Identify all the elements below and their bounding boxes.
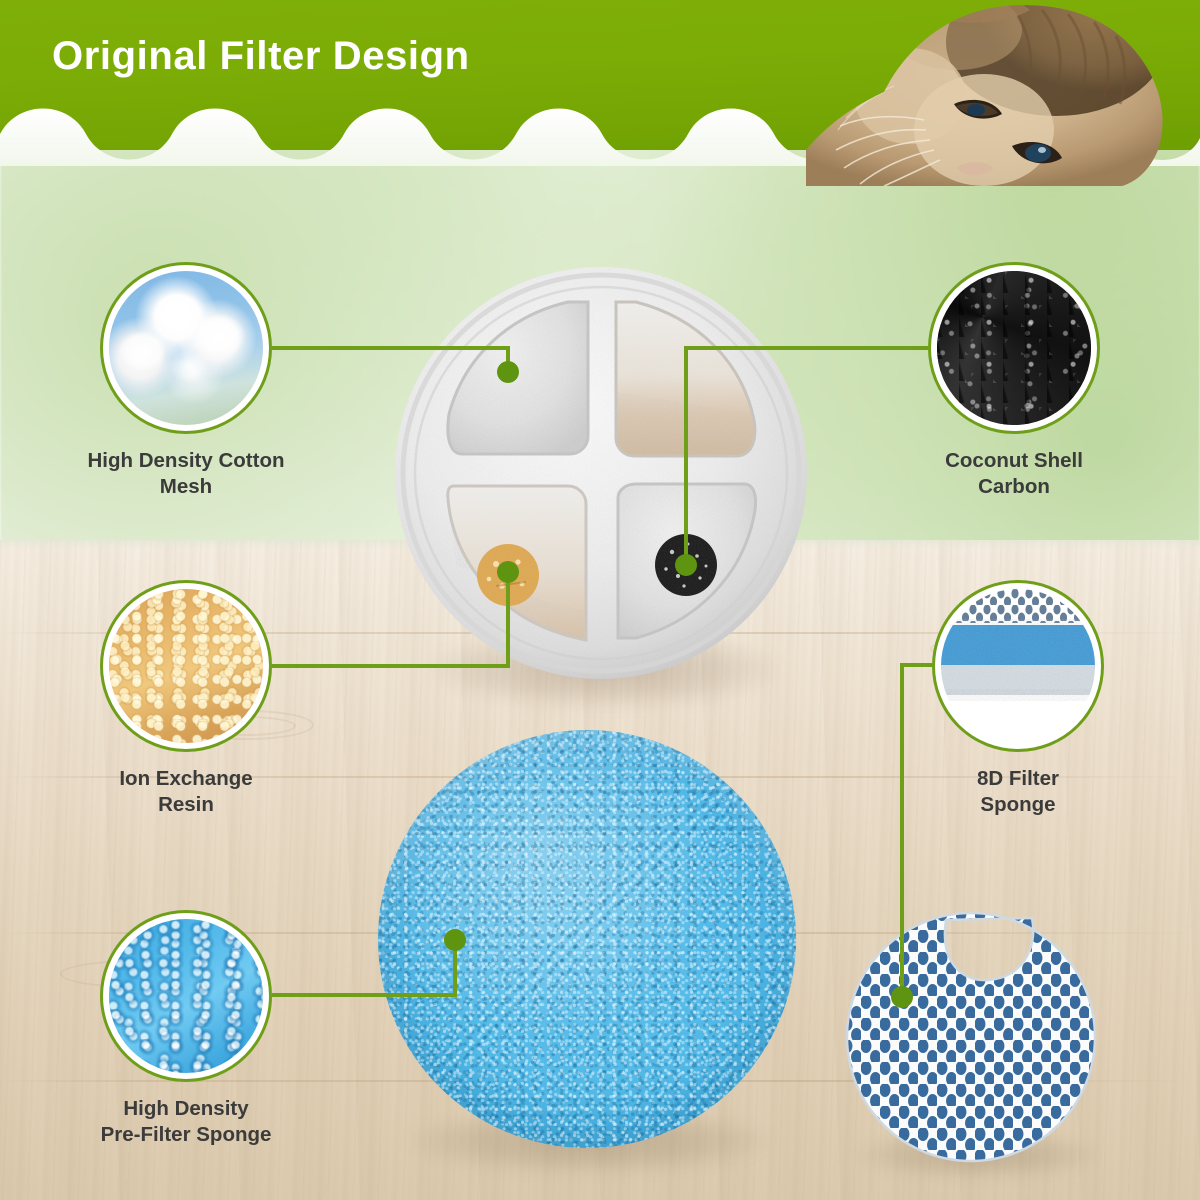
page-title: Original Filter Design bbox=[52, 34, 470, 79]
layered-sponge-thumbnail bbox=[941, 589, 1095, 743]
callout-label-resin: Ion Exchange Resin bbox=[36, 766, 336, 818]
carbon-granules-thumbnail bbox=[937, 271, 1091, 425]
cotton-bolls-thumbnail bbox=[109, 271, 263, 425]
callout-label-cotton: High Density Cotton Mesh bbox=[36, 448, 336, 500]
carbon-sample-spot bbox=[655, 534, 717, 596]
resin-sample-spot bbox=[477, 544, 539, 606]
honeycomb-filter-product bbox=[842, 908, 1100, 1166]
infographic-canvas: Original Filter Design bbox=[0, 0, 1200, 1200]
filter-cartridge-product bbox=[392, 264, 810, 682]
callout-label-8d: 8D Filter Sponge bbox=[868, 766, 1168, 818]
callout-label-carbon: Coconut Shell Carbon bbox=[864, 448, 1164, 500]
cat-photo bbox=[806, 0, 1200, 186]
blue-foam-thumbnail bbox=[109, 919, 263, 1073]
resin-beads-thumbnail bbox=[109, 589, 263, 743]
pre-filter-sponge-product bbox=[378, 730, 796, 1148]
sponge-pore-texture bbox=[378, 730, 796, 1148]
callout-label-prefilter: High Density Pre-Filter Sponge bbox=[36, 1096, 336, 1148]
